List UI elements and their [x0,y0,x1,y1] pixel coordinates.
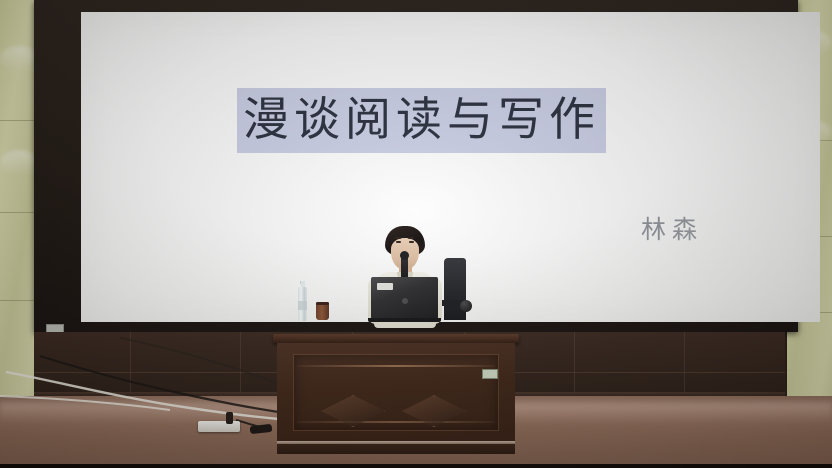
coffee-cup [316,302,329,320]
laptop [371,277,438,322]
microphone-base [460,300,472,312]
podium-base [277,441,515,454]
frame-bottom-bar [0,464,832,468]
podium-label-sticker [482,369,498,379]
laptop-logo-icon [402,298,408,304]
podium [277,334,515,454]
laptop-sticker [377,283,393,290]
power-plug [226,412,233,424]
slide-title: 漫谈阅读与写作 [237,88,606,153]
podium-desktop [273,334,519,343]
water-bottle [298,281,307,321]
slide-author: 林森 [641,210,703,246]
power-strip [198,421,240,432]
podium-front-panel [277,343,515,441]
lecture-hall-scene: 漫谈阅读与写作 林森 [0,0,832,468]
